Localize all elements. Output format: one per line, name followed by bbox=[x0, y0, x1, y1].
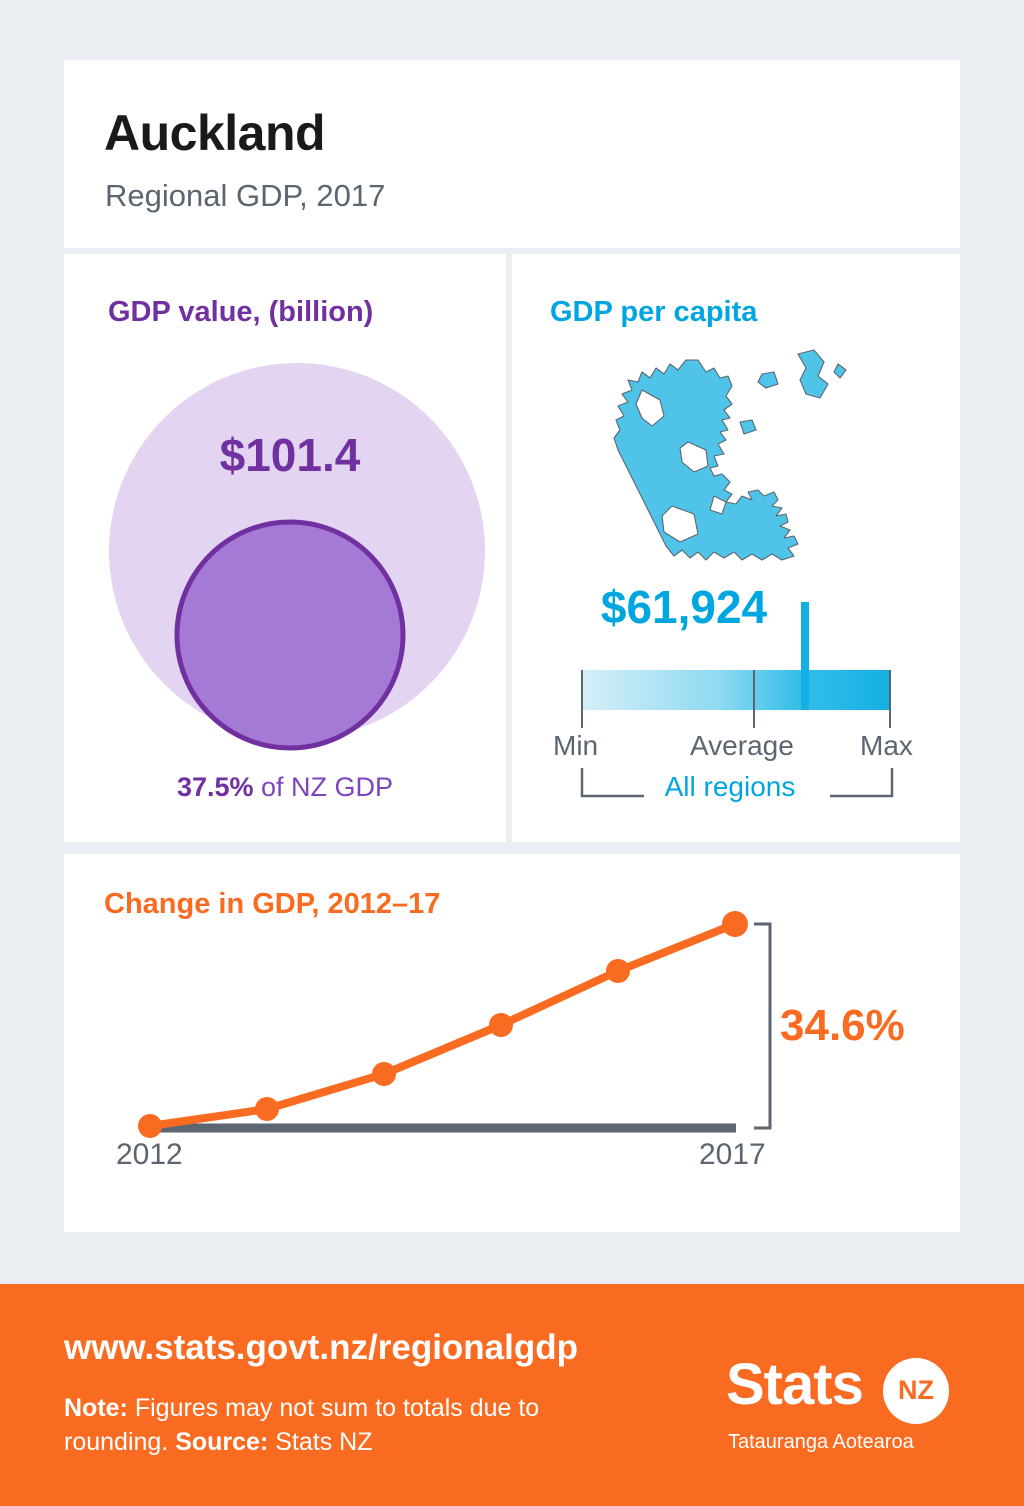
range-gradient-bar bbox=[581, 670, 890, 710]
change-in-gdp-panel: Change in GDP, 2012–17 2012 2017 34.6% bbox=[64, 854, 960, 1232]
footer-source-text: Stats NZ bbox=[268, 1428, 372, 1456]
stats-nz-logo: Stats NZ Tatauranga Aotearoa bbox=[726, 1356, 956, 1466]
map-great-barrier-island bbox=[798, 350, 828, 398]
chart-point-2014 bbox=[372, 1062, 396, 1086]
map-island-rangitoto bbox=[740, 420, 756, 434]
gdp-value-panel: GDP value, (billion) $101.4 37.5% of NZ … bbox=[64, 254, 506, 842]
footer-note-label: Note: bbox=[64, 1394, 128, 1422]
chart-change-percent: 34.6% bbox=[780, 1004, 905, 1048]
chart-point-2017 bbox=[722, 911, 748, 937]
gdp-share-percent: 37.5% bbox=[177, 772, 254, 802]
chart-year-start-label: 2012 bbox=[116, 1140, 183, 1170]
range-label-min: Min bbox=[553, 732, 598, 760]
range-tick-min bbox=[581, 670, 583, 728]
gdp-proportion-circles bbox=[64, 254, 506, 842]
range-tick-max bbox=[889, 670, 891, 728]
logo-nz-badge-text: NZ bbox=[883, 1377, 949, 1404]
auckland-region-map-icon bbox=[602, 346, 852, 586]
chart-point-2013 bbox=[255, 1097, 279, 1121]
chart-trend-line bbox=[150, 924, 735, 1126]
gdp-share-caption: 37.5% of NZ GDP bbox=[64, 774, 506, 801]
page-title: Auckland bbox=[104, 108, 325, 158]
footer-url[interactable]: www.stats.govt.nz/regionalgdp bbox=[64, 1330, 578, 1365]
inner-circle-auckland-gdp bbox=[177, 522, 403, 748]
range-label-average: Average bbox=[690, 732, 794, 760]
page-subtitle: Regional GDP, 2017 bbox=[105, 180, 385, 211]
footer-source-label: Source: bbox=[175, 1428, 268, 1456]
range-tick-average bbox=[753, 670, 755, 728]
all-regions-label: All regions bbox=[640, 773, 820, 801]
chart-change-bracket bbox=[754, 924, 770, 1128]
chart-point-2015 bbox=[489, 1013, 513, 1037]
chart-point-2016 bbox=[606, 959, 630, 983]
gdp-value-amount: $101.4 bbox=[64, 432, 506, 478]
range-value-indicator bbox=[801, 602, 809, 710]
logo-nz-badge: NZ bbox=[883, 1358, 949, 1424]
footer-note: Note: Figures may not sum to totals due … bbox=[64, 1392, 604, 1460]
chart-year-end-label: 2017 bbox=[699, 1140, 766, 1170]
bracket-left bbox=[582, 768, 644, 796]
gdp-per-capita-amount: $61,924 bbox=[534, 584, 834, 630]
bracket-right bbox=[830, 768, 892, 796]
gdp-share-suffix: of NZ GDP bbox=[254, 772, 394, 802]
logo-tagline: Tatauranga Aotearoa bbox=[728, 1432, 914, 1452]
map-island-central-north bbox=[758, 372, 778, 388]
logo-wordmark: Stats bbox=[726, 1356, 863, 1414]
header-panel: Auckland Regional GDP, 2017 bbox=[64, 60, 960, 248]
gdp-per-capita-panel: GDP per capita $61,924 Min Average Max A… bbox=[512, 254, 960, 842]
gdp-per-capita-heading: GDP per capita bbox=[550, 298, 757, 327]
map-small-island-ne bbox=[834, 364, 846, 378]
range-label-max: Max bbox=[860, 732, 913, 760]
chart-point-2012 bbox=[138, 1114, 162, 1138]
